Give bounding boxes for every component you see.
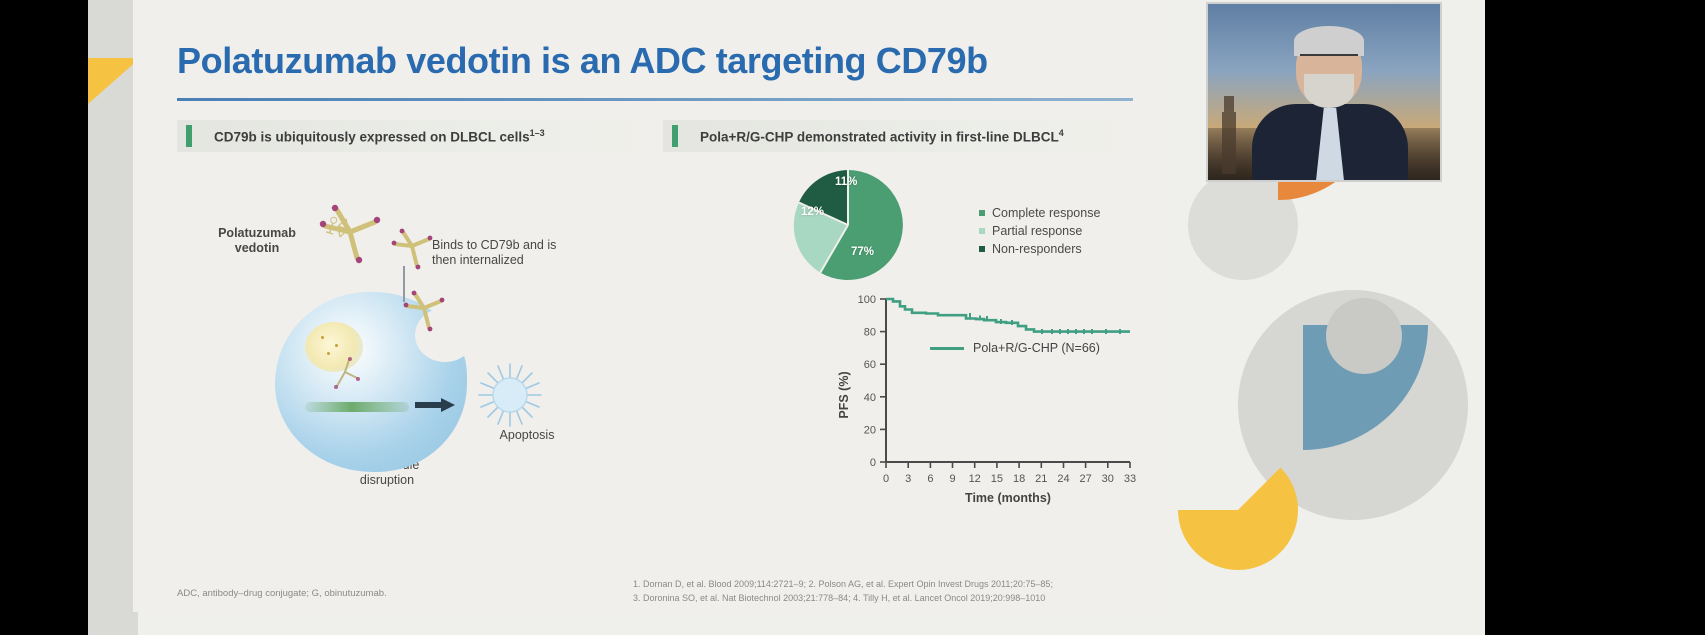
x-tick-3: 3 xyxy=(905,473,911,485)
x-tick-21: 21 xyxy=(1035,473,1047,485)
legend-item-complete-response: Complete response xyxy=(979,204,1100,222)
reference-line-1: 1. Dornan D, et al. Blood 2009;114:2721–… xyxy=(633,578,1053,592)
nucleus-dot xyxy=(335,344,338,347)
x-tick-33: 33 xyxy=(1124,473,1136,485)
x-tick-9: 9 xyxy=(949,473,955,485)
pie-value-non-responders: 11% xyxy=(835,176,857,188)
presenter-glasses xyxy=(1300,54,1358,65)
presenter-beard xyxy=(1304,74,1354,108)
y-tick-100: 100 xyxy=(858,294,876,306)
pfs-chart-graphic: 0 20 40 60 80 100 0 xyxy=(708,285,1138,510)
microtubule-strand xyxy=(305,402,409,412)
pfs-survival-curve xyxy=(886,299,1130,332)
presenter-webcam-tile[interactable] xyxy=(1206,2,1442,182)
x-tick-24: 24 xyxy=(1057,473,1069,485)
slide-canvas: Polatuzumab vedotin is an ADC targeting … xyxy=(133,0,1173,612)
legend-swatch-icon xyxy=(979,210,985,216)
legend-item-non-responders: Non-responders xyxy=(979,240,1100,258)
x-tick-27: 27 xyxy=(1079,473,1091,485)
footnote-abbreviations: ADC, antibody–drug conjugate; G, obinutu… xyxy=(177,588,387,599)
x-tick-12: 12 xyxy=(969,473,981,485)
legend-label: Non-responders xyxy=(992,242,1082,256)
y-tick-40: 40 xyxy=(864,392,876,404)
apoptotic-cell-icon xyxy=(477,362,543,428)
legend-label: Complete response xyxy=(992,206,1100,220)
section-left-text: CD79b is ubiquitously expressed on DLBCL… xyxy=(214,129,530,144)
pfs-kaplan-meier-chart: 0 20 40 60 80 100 0 xyxy=(708,285,1138,510)
mechanism-of-action-illustration: Polatuzumab vedotin Binds to CD79b and i… xyxy=(177,170,657,530)
footnote-references: 1. Dornan D, et al. Blood 2009;114:2721–… xyxy=(633,578,1053,606)
section-header-left: CD79b is ubiquitously expressed on DLBCL… xyxy=(177,120,652,152)
legend-swatch-icon xyxy=(979,228,985,234)
legend-label-pola-rgchp: Pola+R/G-CHP (N=66) xyxy=(973,341,1100,355)
pie-value-partial-response: 12% xyxy=(801,206,824,218)
section-header-right: Pola+R/G-CHP demonstrated activity in fi… xyxy=(663,120,1133,152)
legend-line-icon xyxy=(930,347,964,350)
legend-label: Partial response xyxy=(992,224,1082,238)
x-tick-18: 18 xyxy=(1013,473,1025,485)
accent-mark-left xyxy=(186,125,192,147)
bg-arc-yellow xyxy=(1178,450,1298,570)
arrow-to-apoptosis-icon xyxy=(415,398,457,412)
section-header-right-label: Pola+R/G-CHP demonstrated activity in fi… xyxy=(700,128,1064,145)
title-divider xyxy=(177,98,1133,101)
legend-item-partial-response: Partial response xyxy=(979,222,1100,240)
nucleus-dot xyxy=(327,352,330,355)
y-tick-60: 60 xyxy=(864,359,876,371)
webcam-background-tower xyxy=(1222,112,1236,174)
y-tick-80: 80 xyxy=(864,327,876,339)
x-tick-0: 0 xyxy=(883,473,889,485)
response-pie-chart: 77% 12% 11% Complete response Partial re… xyxy=(739,168,1139,286)
presenter-hair xyxy=(1294,26,1364,56)
adc-molecule-icon xyxy=(403,290,449,334)
pie-chart-legend: Complete response Partial response Non-r… xyxy=(979,204,1100,258)
section-right-superscript: 4 xyxy=(1059,128,1064,138)
nucleus-dot xyxy=(321,336,324,339)
x-tick-6: 6 xyxy=(927,473,933,485)
adc-molecule-icon xyxy=(391,228,437,272)
y-tick-20: 20 xyxy=(864,424,876,436)
arrow-head xyxy=(441,398,455,412)
legend-swatch-icon xyxy=(979,246,985,252)
adc-molecule-icon xyxy=(317,204,391,266)
section-left-superscript: 1–3 xyxy=(530,128,545,138)
reference-line-2: 3. Doronina SO, et al. Nat Biotechnol 20… xyxy=(633,592,1053,606)
page-title: Polatuzumab vedotin is an ADC targeting … xyxy=(177,40,988,82)
section-header-left-label: CD79b is ubiquitously expressed on DLBCL… xyxy=(214,128,545,145)
y-tick-0: 0 xyxy=(870,457,876,469)
screen-share-view: Polatuzumab vedotin is an ADC targeting … xyxy=(0,0,1705,635)
bg-circle-gray-small xyxy=(1326,298,1402,374)
section-right-text: Pola+R/G-CHP demonstrated activity in fi… xyxy=(700,129,1059,144)
arrow-shaft xyxy=(415,402,443,408)
released-mmae-payload-icon xyxy=(327,356,373,396)
accent-mark-right xyxy=(672,125,678,147)
x-tick-30: 30 xyxy=(1102,473,1114,485)
label-binds-internalized: Binds to CD79b and is then internalized xyxy=(432,238,597,269)
label-polatuzumab-vedotin: Polatuzumab vedotin xyxy=(197,226,317,257)
y-axis-label: PFS (%) xyxy=(837,371,851,418)
pie-value-complete-response: 77% xyxy=(851,246,874,258)
label-apoptosis: Apoptosis xyxy=(472,428,582,443)
x-tick-15: 15 xyxy=(991,473,1003,485)
x-axis-label: Time (months) xyxy=(965,491,1051,505)
pfs-chart-legend: Pola+R/G-CHP (N=66) xyxy=(930,341,1100,355)
